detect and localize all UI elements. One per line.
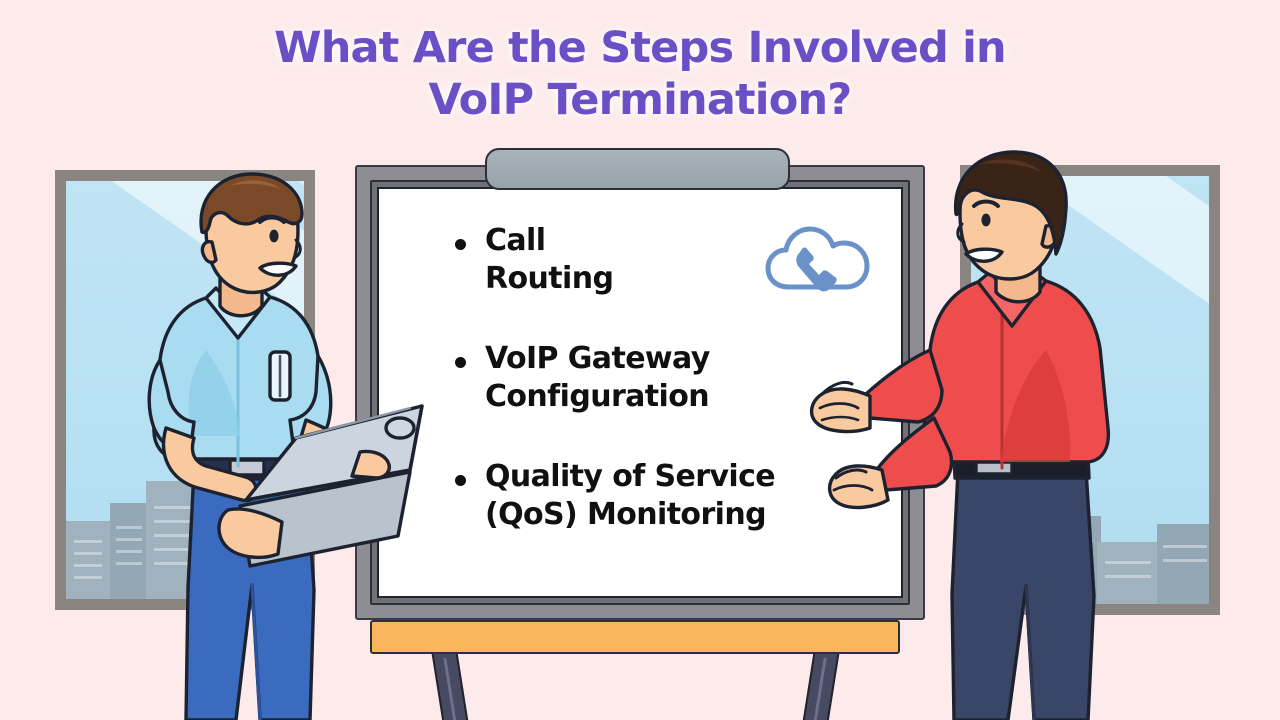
bullet-line-2: (QoS) Monitoring — [485, 497, 766, 532]
bullet-item-voip-gateway-configuration: VoIP GatewayConfiguration — [455, 340, 865, 416]
folder-hinge — [386, 418, 414, 438]
bullet-item-quality-of-service-monitoring: Quality of Service(QoS) Monitoring — [455, 458, 865, 534]
title-line-2: VoIP Termination? — [0, 74, 1280, 126]
ear — [202, 242, 216, 263]
eye — [981, 214, 990, 227]
person-left-man-blue-shirt — [110, 170, 450, 720]
page-title: What Are the Steps Involved in VoIP Term… — [0, 22, 1280, 126]
slacks — [952, 470, 1094, 720]
bullet-dot-icon — [455, 239, 466, 250]
eye — [269, 230, 278, 243]
smile — [966, 249, 1002, 261]
bullet-line-1: VoIP Gateway — [485, 341, 710, 376]
bullet-text: Quality of Service(QoS) Monitoring — [485, 458, 775, 534]
bullet-text: CallRouting — [485, 222, 613, 298]
bullet-dot-icon — [455, 475, 466, 486]
smile — [260, 263, 296, 275]
sleeve-upper — [860, 350, 942, 422]
whiteboard-clip-bar — [485, 148, 790, 190]
bullet-text: VoIP GatewayConfiguration — [485, 340, 710, 416]
title-line-1: What Are the Steps Involved in — [0, 22, 1280, 74]
bullet-dot-icon — [455, 357, 466, 368]
bullet-line-1: Quality of Service — [485, 459, 775, 494]
hand-right — [352, 451, 389, 478]
hand-left — [219, 509, 282, 557]
bullet-line-2: Configuration — [485, 379, 709, 414]
infographic-scene: CallRouting VoIP GatewayConfiguration Qu… — [0, 0, 1280, 720]
cloud-phone-icon — [765, 225, 870, 305]
bullet-line-2: Routing — [485, 261, 613, 296]
bullet-line-1: Call — [485, 223, 545, 258]
